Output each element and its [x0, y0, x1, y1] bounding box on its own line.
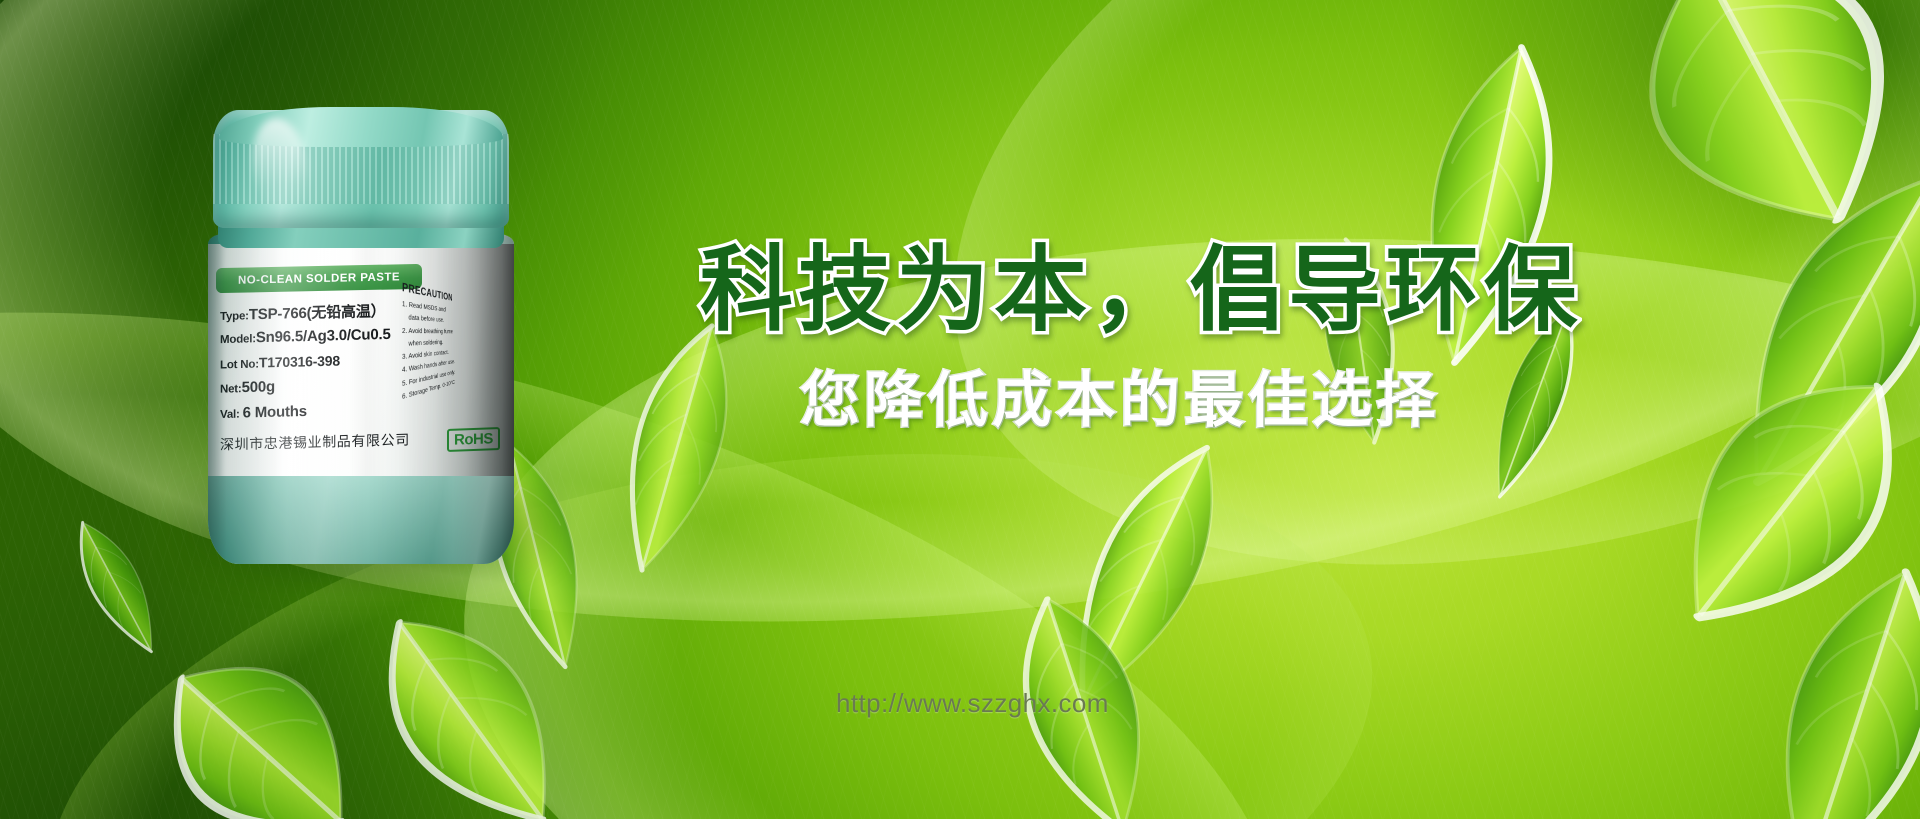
- promo-banner: NO-CLEAN SOLDER PASTE Type:TSP-766(无铅高温）…: [0, 0, 1920, 819]
- marketing-copy: 科技为本，倡导环保 您降低成本的最佳选择: [700, 244, 1760, 431]
- solder-paste-jar: NO-CLEAN SOLDER PASTE Type:TSP-766(无铅高温）…: [196, 110, 526, 590]
- jar-body: NO-CLEAN SOLDER PASTE Type:TSP-766(无铅高温）…: [208, 234, 514, 564]
- spec-value-validity: 6 Mouths: [243, 403, 307, 422]
- label-spec-type: Type:TSP-766(无铅高温）: [220, 300, 385, 325]
- precaution-item: 2. Avoid breathing fume: [402, 326, 469, 337]
- label-spec-net: Net:500g: [220, 378, 275, 396]
- spec-value-lot: T170316-398: [259, 353, 340, 371]
- jar-body-lower: [208, 468, 514, 564]
- spec-value-net: 500g: [242, 378, 275, 396]
- label-spec-lot: Lot No:T170316-398: [220, 353, 340, 372]
- spec-key-model: Model:: [220, 333, 256, 346]
- product-label: NO-CLEAN SOLDER PASTE Type:TSP-766(无铅高温）…: [208, 244, 514, 476]
- spec-key-net: Net:: [220, 383, 242, 396]
- spec-value-model: Sn96.5/Ag3.0/Cu0.5: [256, 326, 391, 346]
- spec-key-validity: Val:: [220, 409, 243, 422]
- spec-key-lot: Lot No:: [220, 359, 259, 372]
- label-precautions: PRECAUTION 1. Read MSDS and data before …: [402, 282, 469, 405]
- headline-text: 科技为本，倡导环保: [700, 244, 1760, 337]
- rohs-badge: RoHS: [447, 427, 500, 452]
- website-url[interactable]: http://www.szzghx.com: [836, 688, 1109, 719]
- spec-key-type: Type:: [220, 310, 249, 323]
- subheadline-text: 您降低成本的最佳选择: [800, 371, 1760, 431]
- spec-value-type: TSP-766(无铅高温）: [249, 303, 386, 323]
- label-title-banner: NO-CLEAN SOLDER PASTE: [216, 264, 422, 293]
- label-spec-validity: Val: 6 Mouths: [220, 403, 307, 422]
- jar-cap: [213, 110, 509, 228]
